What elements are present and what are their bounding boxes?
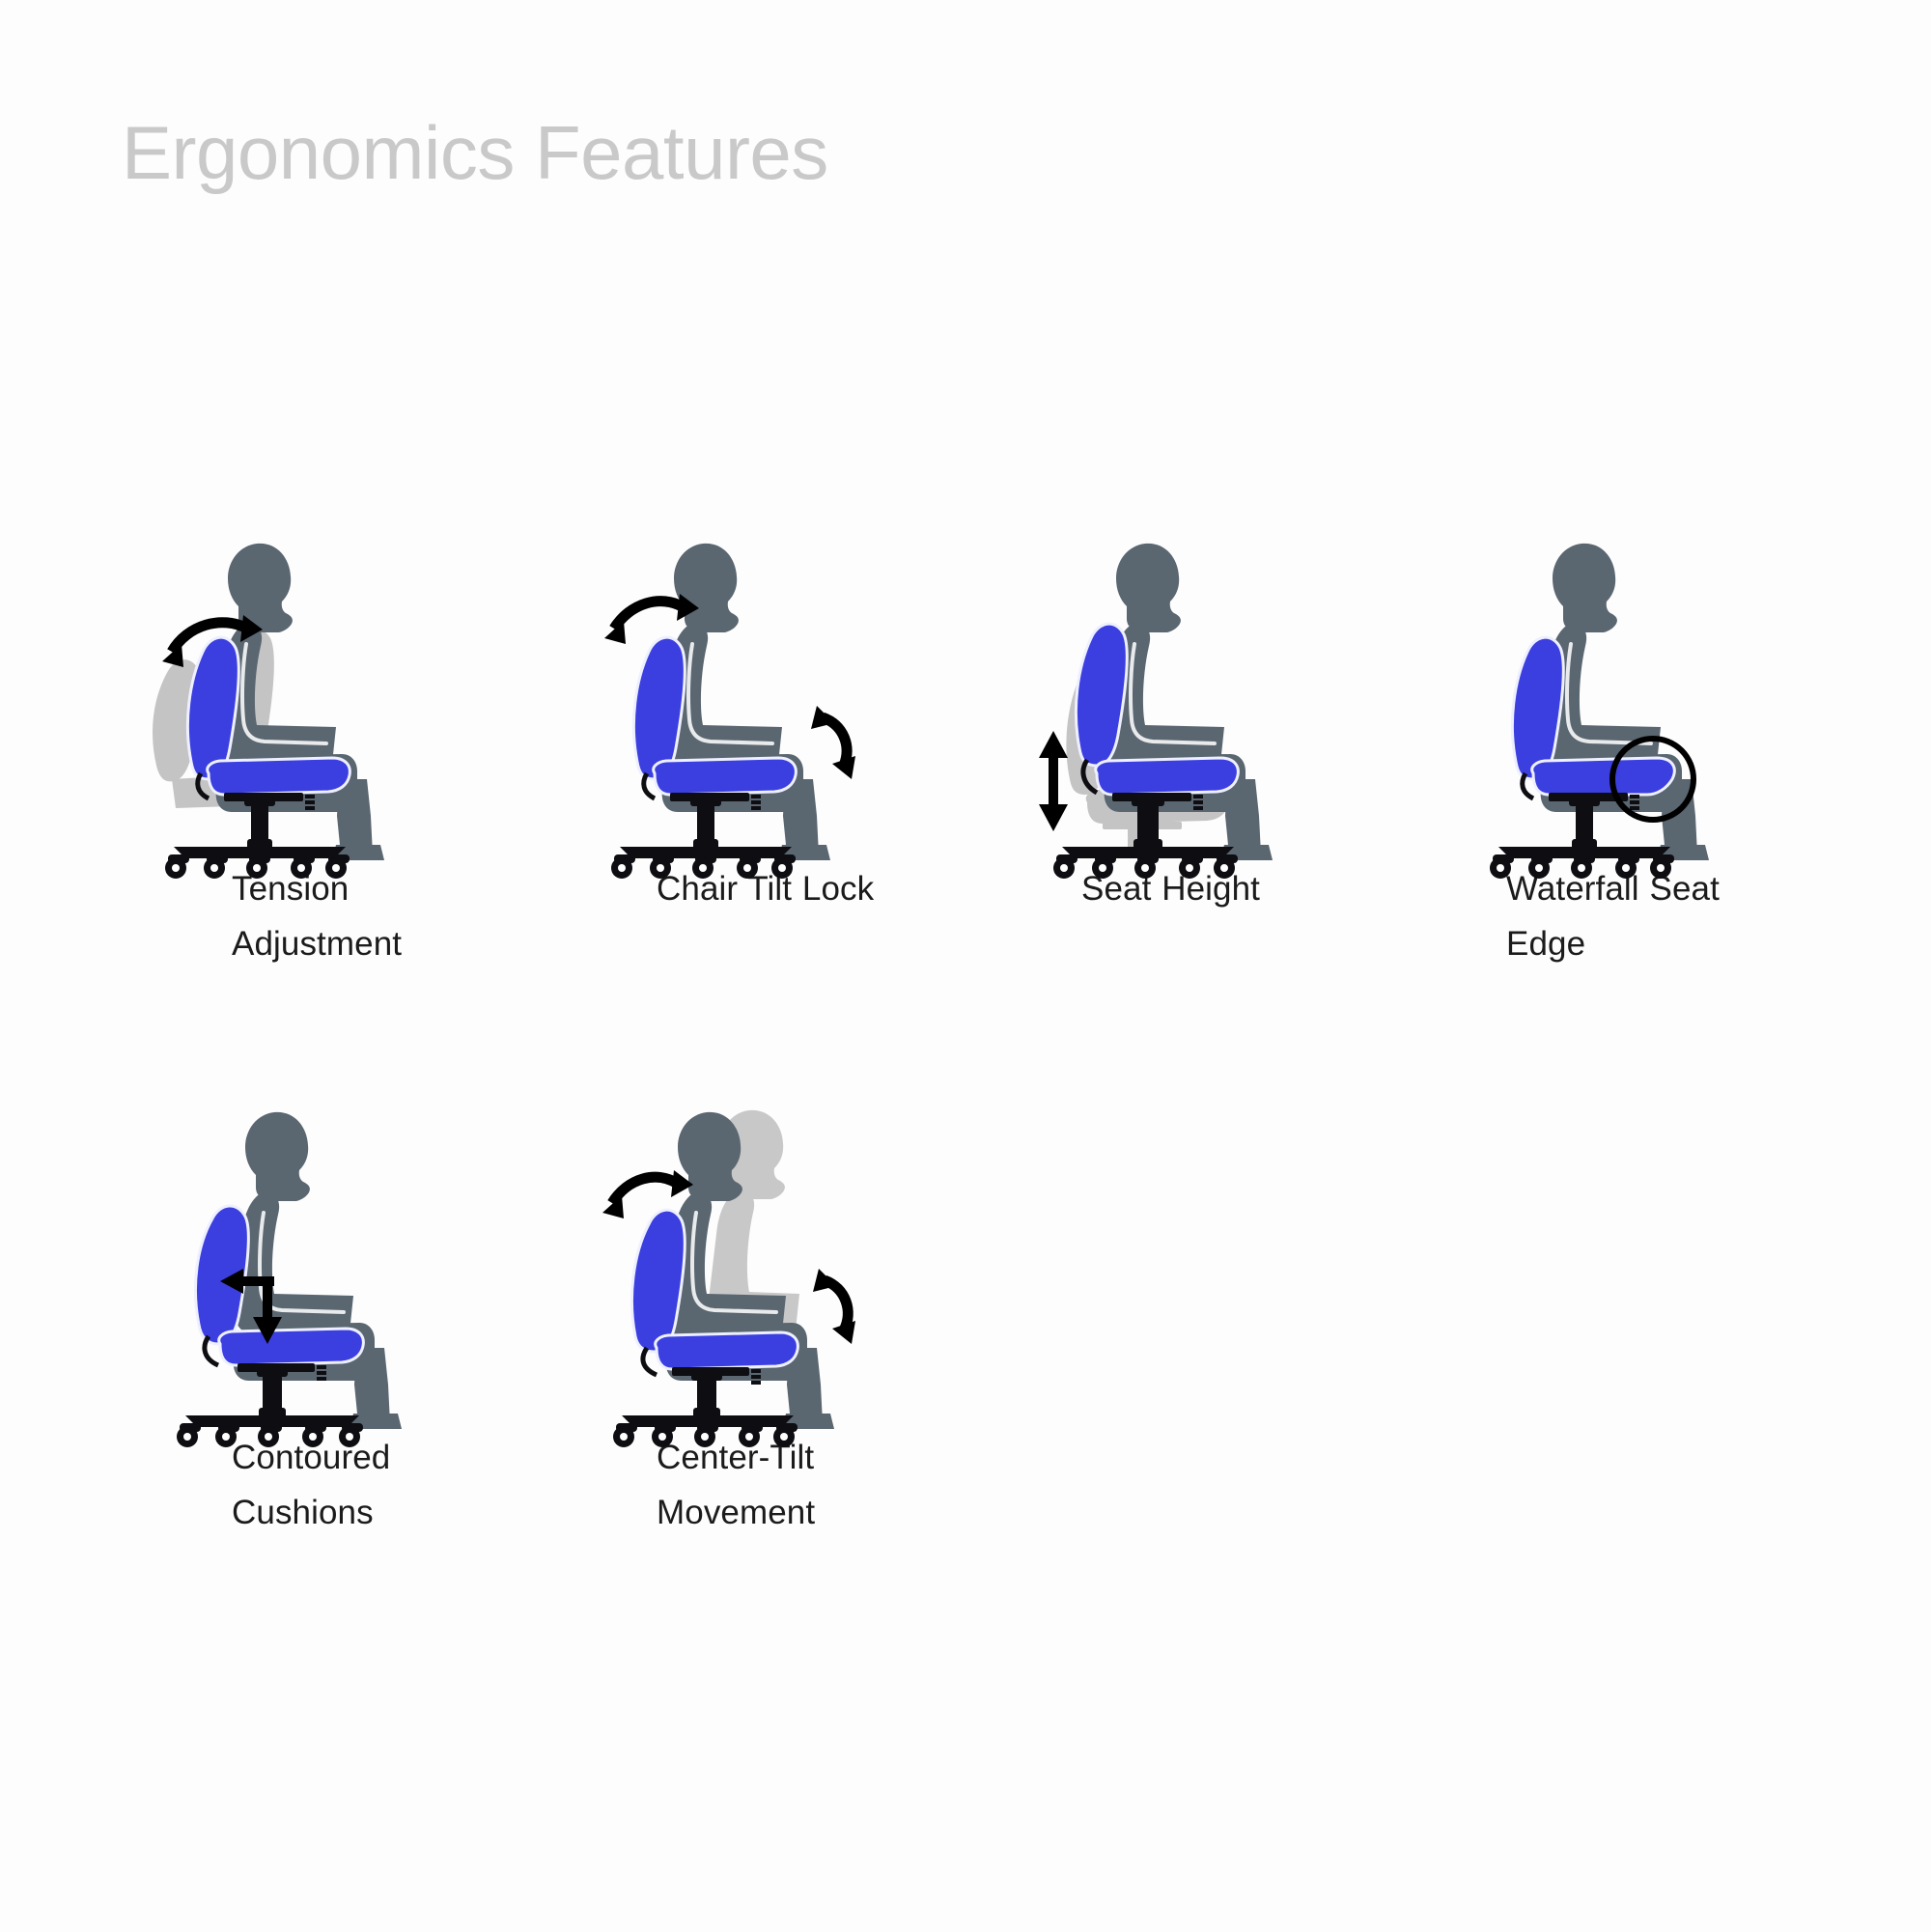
feature-caption: Tension Adjustment	[126, 862, 463, 971]
caption-line-2: Adjustment	[232, 917, 463, 972]
chair-tension-adjustment-icon	[126, 526, 550, 835]
feature-card-contoured-cushions[interactable]: Contoured Cushions	[126, 1095, 550, 1540]
feature-card-empty	[975, 1095, 1400, 1540]
feature-card-empty	[1400, 1095, 1825, 1540]
chair-seat-height-icon	[975, 526, 1400, 835]
chair-tilt-lock-icon	[550, 526, 975, 835]
caption-line-1: Center-Tilt	[657, 1431, 888, 1486]
chair-center-tilt-movement-icon	[550, 1095, 975, 1404]
feature-caption: Chair Tilt Lock	[550, 862, 888, 917]
caption-line-2: Cushions	[232, 1486, 463, 1541]
feature-caption: Contoured Cushions	[126, 1431, 463, 1540]
chair-contoured-cushions-icon	[126, 1095, 550, 1404]
page-title: Ergonomics Features	[122, 114, 828, 193]
slide-canvas: Ergonomics Features	[0, 0, 1931, 1932]
caption-line-2: Edge	[1506, 917, 1738, 972]
feature-card-center-tilt-movement[interactable]: Center-Tilt Movement	[550, 1095, 975, 1540]
features-row-1: Tension Adjustment	[126, 526, 1825, 971]
caption-line-2: Movement	[657, 1486, 888, 1541]
curved-arrow-icon	[811, 706, 855, 779]
features-row-2: Contoured Cushions	[126, 1095, 1825, 1540]
feature-card-chair-tilt-lock[interactable]: Chair Tilt Lock	[550, 526, 975, 971]
double-arrow-vertical-icon	[1039, 731, 1068, 831]
feature-caption: Waterfall Seat Edge	[1400, 862, 1738, 971]
feature-card-tension-adjustment[interactable]: Tension Adjustment	[126, 526, 550, 971]
feature-caption: Center-Tilt Movement	[550, 1431, 888, 1540]
feature-card-waterfall-seat-edge[interactable]: Waterfall Seat Edge	[1400, 526, 1825, 971]
feature-card-seat-height[interactable]: Seat Height	[975, 526, 1400, 971]
features-grid: Tension Adjustment	[126, 526, 1825, 1541]
curved-arrow-icon	[813, 1269, 855, 1344]
chair-waterfall-seat-edge-icon	[1400, 526, 1825, 835]
